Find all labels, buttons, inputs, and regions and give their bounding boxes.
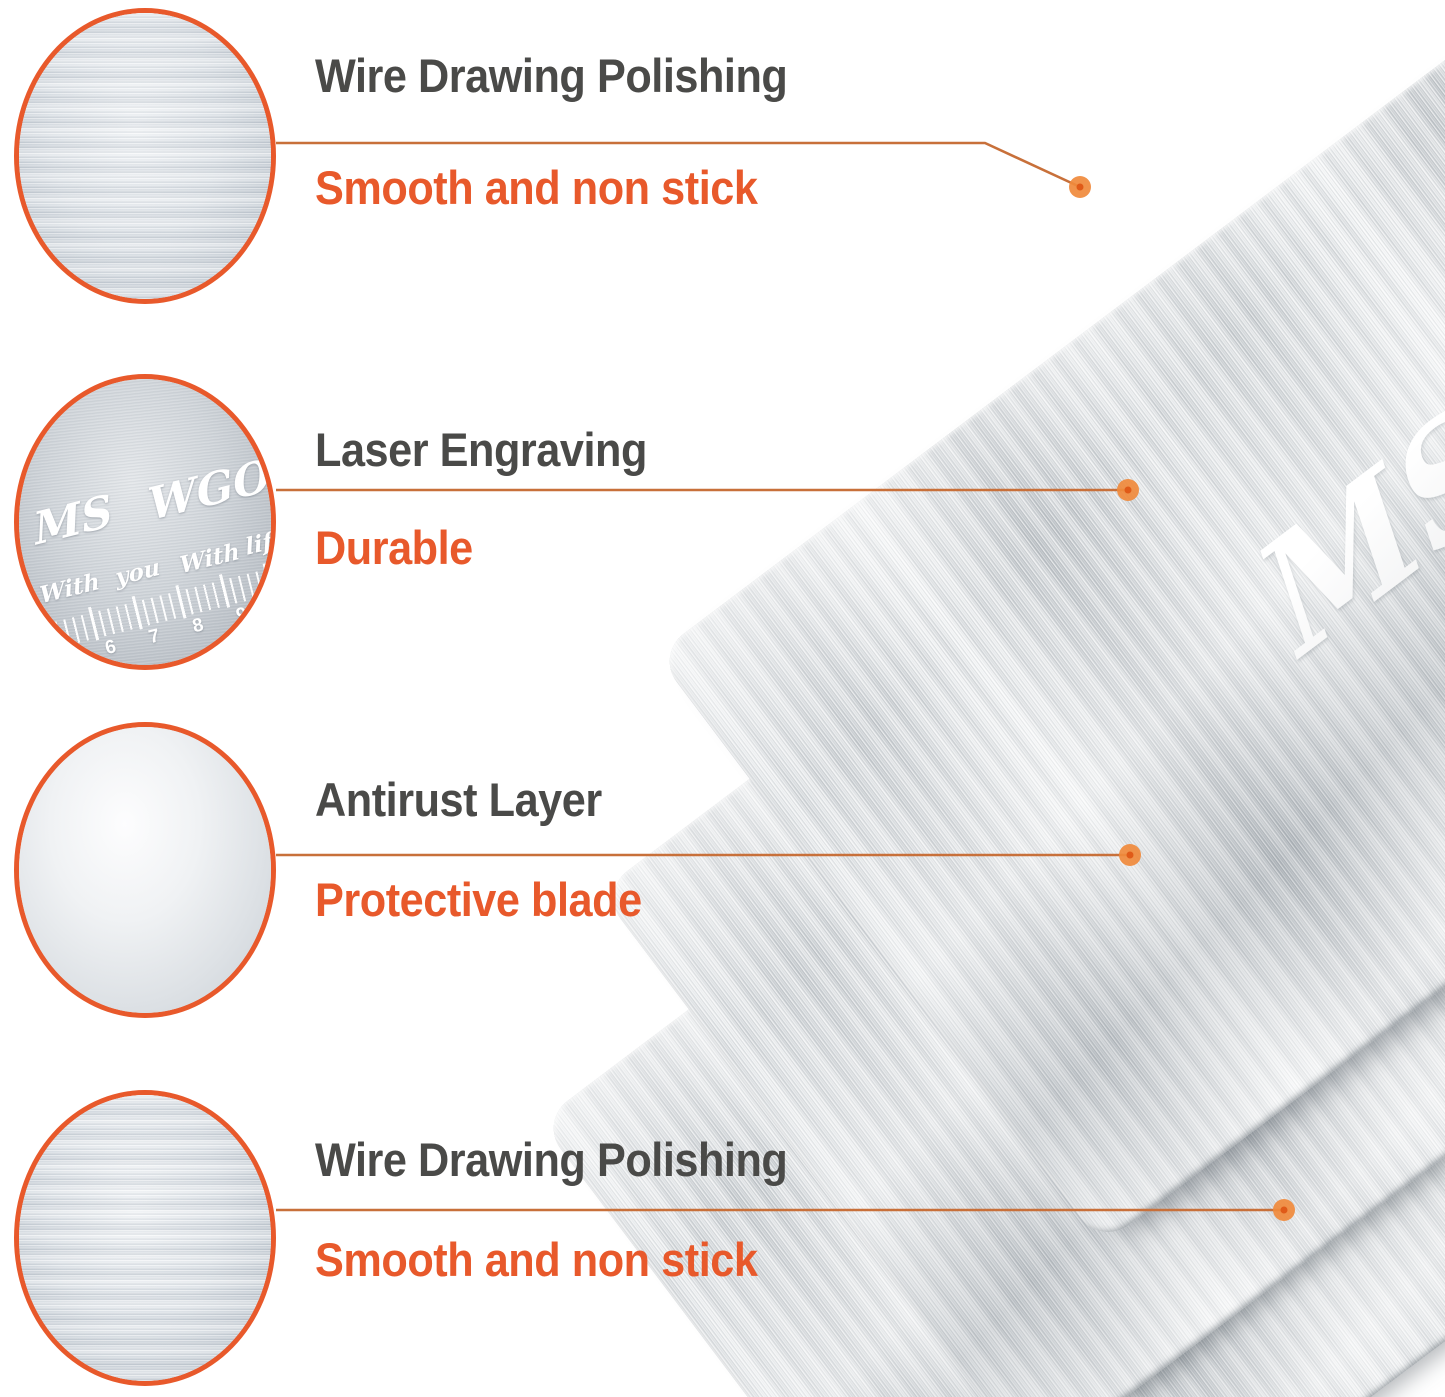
connector-dot-1 (1069, 176, 1091, 198)
callout-subtitle-1: Smooth and non stick (315, 160, 757, 215)
brushed-texture-swatch-2 (19, 1095, 271, 1381)
connector-dot-4 (1273, 1199, 1295, 1221)
callout-subtitle-3: Protective blade (315, 872, 642, 927)
ruler-mark-7: 7 (147, 625, 163, 649)
connector-dot-2 (1117, 479, 1139, 501)
connector-dot-1-core (1077, 184, 1084, 191)
connector-dot-3 (1119, 844, 1141, 866)
plain-texture-swatch (19, 727, 271, 1013)
callout-title-1: Wire Drawing Polishing (315, 48, 787, 103)
connector-dot-2-core (1125, 487, 1132, 494)
callout-bubble-2: MS WGO With you With life 6 7 8 9 (14, 374, 276, 670)
infographic-canvas: MS WGO Wire Drawing Polishing Smooth and… (0, 0, 1445, 1397)
callout-title-4: Wire Drawing Polishing (315, 1132, 787, 1187)
ruler-mark-6: 6 (103, 636, 119, 660)
callout-title-3: Antirust Layer (315, 772, 602, 827)
callout-bubble-3 (14, 722, 276, 1018)
callout-subtitle-4: Smooth and non stick (315, 1232, 757, 1287)
callout-bubble-1 (14, 8, 276, 304)
ruler-mark-8: 8 (190, 614, 206, 638)
callout-subtitle-2: Durable (315, 520, 473, 575)
connector-dot-4-core (1281, 1207, 1288, 1214)
metal-sheet-middle (600, 193, 1445, 1397)
brushed-texture-swatch (19, 13, 271, 299)
brand-logo-ms: MS (1232, 366, 1445, 689)
ruler-mark-9: 9 (234, 604, 250, 628)
connector-dot-3-core (1127, 852, 1134, 859)
callout-bubble-4 (14, 1090, 276, 1386)
callout-title-2: Laser Engraving (315, 422, 647, 477)
